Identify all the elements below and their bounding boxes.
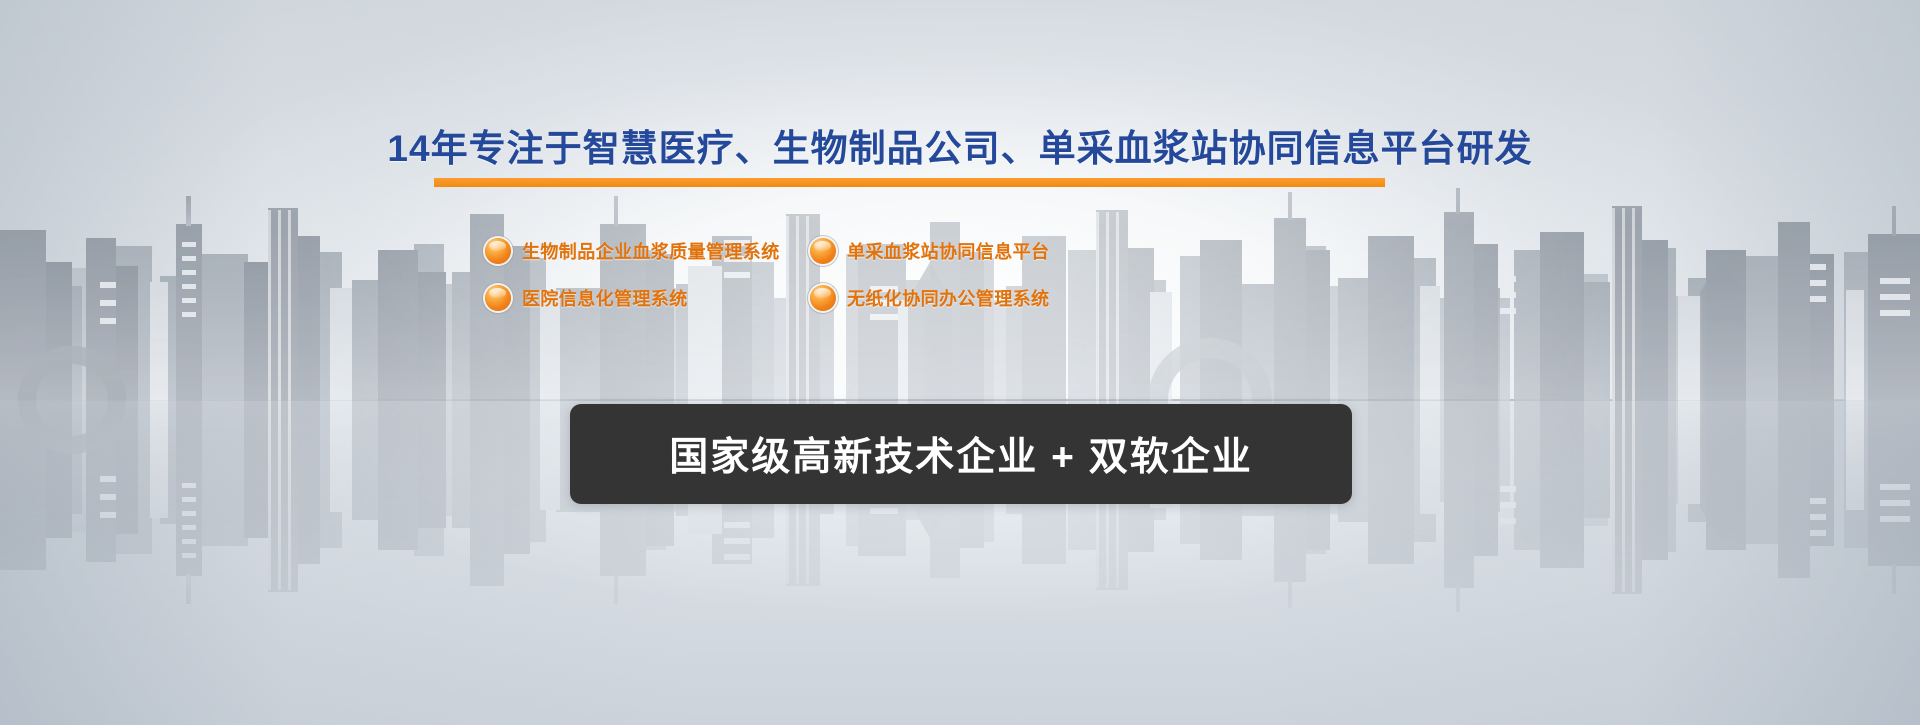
title-underline-rule	[434, 178, 1385, 187]
feature-label: 无纸化协同办公管理系统	[847, 285, 1049, 311]
page-title: 14年专注于智慧医疗、生物制品公司、单采血浆站协同信息平台研发	[0, 118, 1920, 172]
certification-badge: 国家级高新技术企业 + 双软企业	[570, 404, 1352, 504]
feature-label: 单采血浆站协同信息平台	[847, 238, 1049, 264]
orange-sphere-bullet-icon	[810, 285, 836, 311]
feature-label: 生物制品企业血浆质量管理系统	[522, 238, 780, 264]
banner-content: 14年专注于智慧医疗、生物制品公司、单采血浆站协同信息平台研发 生物制品企业血浆…	[0, 0, 1920, 725]
hero-banner: 14年专注于智慧医疗、生物制品公司、单采血浆站协同信息平台研发 生物制品企业血浆…	[0, 0, 1920, 725]
feature-row: 生物制品企业血浆质量管理系统 单采血浆站协同信息平台	[485, 238, 1445, 264]
feature-item-paperless-office[interactable]: 无纸化协同办公管理系统	[810, 285, 1230, 311]
orange-sphere-bullet-icon	[810, 238, 836, 264]
feature-label: 医院信息化管理系统	[522, 285, 688, 311]
feature-item-hospital-informatization[interactable]: 医院信息化管理系统	[485, 285, 810, 311]
orange-sphere-bullet-icon	[485, 285, 511, 311]
feature-item-plasma-station-platform[interactable]: 单采血浆站协同信息平台	[810, 238, 1230, 264]
orange-sphere-bullet-icon	[485, 238, 511, 264]
feature-row: 医院信息化管理系统 无纸化协同办公管理系统	[485, 285, 1445, 311]
feature-item-plasma-quality[interactable]: 生物制品企业血浆质量管理系统	[485, 238, 810, 264]
certification-badge-text: 国家级高新技术企业 + 双软企业	[669, 426, 1252, 482]
feature-list: 生物制品企业血浆质量管理系统 单采血浆站协同信息平台 医院信息化管理系统 无纸化…	[485, 238, 1445, 311]
